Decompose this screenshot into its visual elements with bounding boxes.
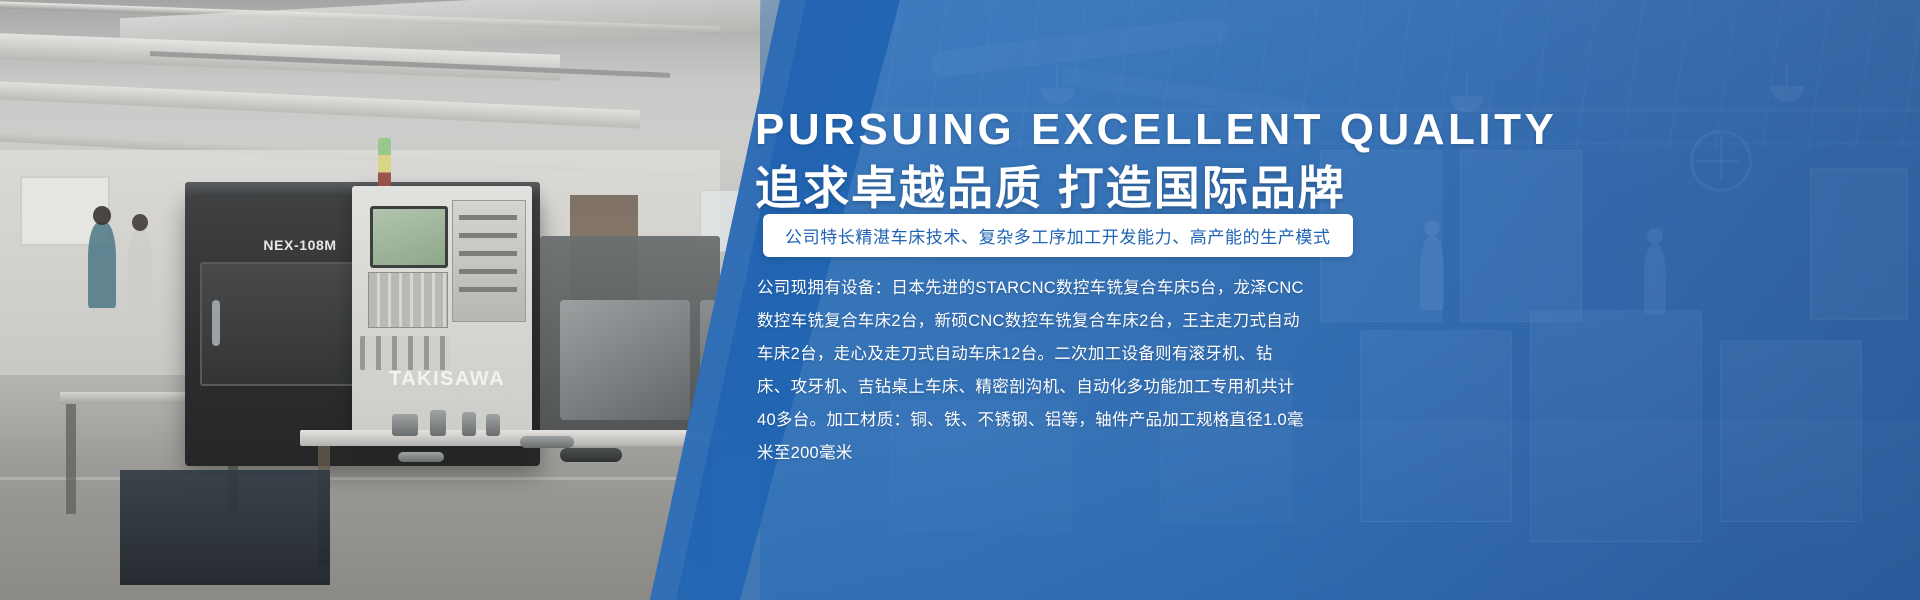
machine-brand-subtext: TAKISAWA MACHINE TOOL CO.,LTD.	[352, 390, 542, 400]
table-leg	[66, 404, 76, 514]
worker-head	[132, 214, 148, 231]
machined-part	[486, 414, 500, 436]
work-bench	[300, 430, 730, 446]
machine-model-label: NEX-108M	[245, 236, 355, 254]
worker-head	[93, 206, 111, 225]
machine-casting	[560, 300, 690, 420]
machined-part	[520, 436, 574, 448]
worker-figure	[128, 230, 152, 308]
machine-brand-text: TAKISAWA	[352, 368, 542, 391]
worker-figure	[88, 222, 116, 308]
machined-part	[462, 412, 476, 436]
headline-english: PURSUING EXCELLENT QUALITY	[755, 108, 1557, 152]
ceiling-beam	[0, 81, 640, 128]
machined-part	[560, 448, 622, 462]
cnc-knob-row	[360, 336, 450, 370]
storage-crate	[120, 470, 330, 585]
machined-part	[398, 452, 444, 462]
cnc-lathe-door	[200, 262, 354, 386]
machined-part	[430, 410, 446, 436]
machined-part	[392, 414, 418, 436]
cnc-side-panel	[452, 200, 526, 322]
body-paragraph: 公司现拥有设备：日本先进的STARCNC数控车铣复合车床5台，龙泽CNC数控车铣…	[757, 272, 1305, 470]
cnc-keypad	[368, 272, 448, 328]
headline-chinese: 追求卓越品质 打造国际品牌	[755, 160, 1346, 216]
subtitle-box: 公司特长精湛车床技术、复杂多工序加工开发能力、高产能的生产模式	[763, 214, 1353, 257]
subtitle-text: 公司特长精湛车床技术、复杂多工序加工开发能力、高产能的生产模式	[785, 228, 1331, 247]
cnc-lathe-handle	[212, 300, 220, 346]
signal-tower-lamp	[378, 138, 391, 190]
hero-banner: NEX-108M TAKISAWA TAKISAWA MACHINE TOOL …	[0, 0, 1920, 600]
cnc-screen	[370, 206, 448, 268]
banner-content: PURSUING EXCELLENT QUALITY 追求卓越品质 打造国际品牌…	[755, 0, 1815, 600]
